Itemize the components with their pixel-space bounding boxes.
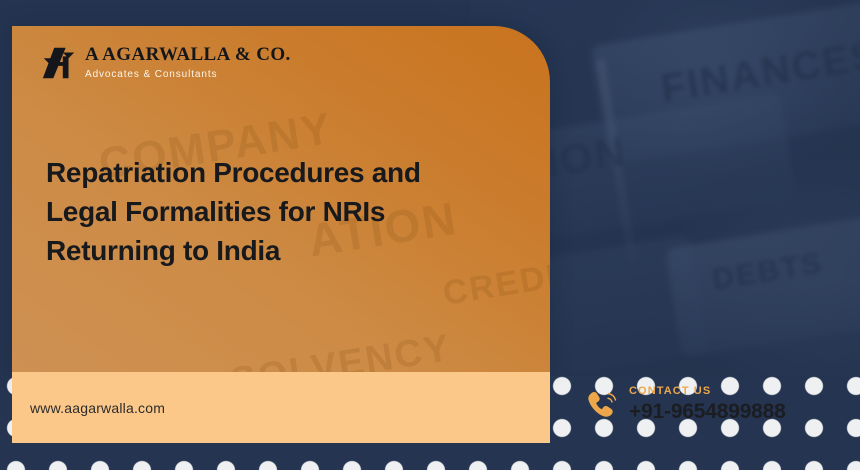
brand-logo[interactable]: A AGARWALLA & CO. Advocates & Consultant… <box>40 42 291 82</box>
phone-ringing-icon <box>586 390 620 420</box>
contact-phone-number[interactable]: +91-9654899888 <box>629 401 786 423</box>
headline-line-1: Repatriation Procedures and <box>46 154 516 193</box>
website-url[interactable]: www.aagarwalla.com <box>12 400 165 416</box>
company-name: A AGARWALLA & CO. <box>85 44 291 65</box>
agarwalla-monogram-a-icon <box>40 44 78 82</box>
hero-panel: COMPANY ATION CREDITORS SOLVENCY A AGARW… <box>12 26 550 372</box>
watermark-solvency: SOLVENCY <box>228 327 454 372</box>
contact-text: CONTACT US +91-9654899888 <box>629 386 786 423</box>
promo-banner: FINANCES ION DEBTS COMPANY ATION CREDITO… <box>0 0 860 470</box>
contact-block[interactable]: CONTACT US +91-9654899888 <box>586 386 786 423</box>
website-band: www.aagarwalla.com <box>12 372 550 443</box>
brand-text: A AGARWALLA & CO. Advocates & Consultant… <box>85 44 291 79</box>
headline: Repatriation Procedures and Legal Formal… <box>46 154 516 271</box>
contact-label: CONTACT US <box>629 386 786 397</box>
company-tagline: Advocates & Consultants <box>85 69 291 80</box>
headline-line-3: Returning to India <box>46 232 516 271</box>
headline-line-2: Legal Formalities for NRIs <box>46 193 516 232</box>
